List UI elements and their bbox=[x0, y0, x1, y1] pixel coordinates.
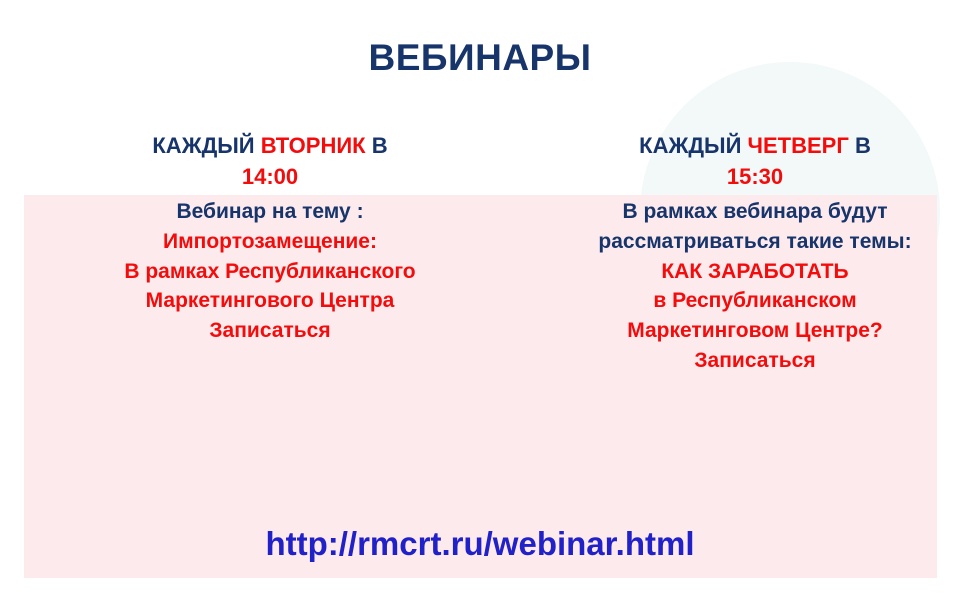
page-title: ВЕБИНАРЫ bbox=[0, 39, 960, 78]
column-thursday-line-3: КАК ЗАРАБОТАТЬ bbox=[555, 257, 955, 287]
column-thursday-line-2: рассматриваться такие темы: bbox=[555, 227, 955, 257]
column-thursday-line-5: Маркетинговом Центре? bbox=[555, 316, 955, 346]
column-tuesday-line-4: Маркетингового Центра bbox=[70, 286, 470, 316]
column-thursday-lines: В рамках вебинара будут рассматриваться … bbox=[555, 197, 955, 375]
column-thursday-heading: КАЖДЫЙ ЧЕТВЕРГ В 15:30 bbox=[555, 130, 955, 192]
column-tuesday-lines: Вебинар на тему : Импортозамещение: В ра… bbox=[70, 197, 470, 345]
column-tuesday-heading: КАЖДЫЙ ВТОРНИК В 14:00 bbox=[70, 130, 470, 192]
heading-prefix: КАЖДЫЙ bbox=[152, 133, 254, 158]
column-tuesday: КАЖДЫЙ ВТОРНИК В 14:00 Вебинар на тему :… bbox=[70, 130, 470, 346]
heading-suffix: В bbox=[372, 133, 388, 158]
column-thursday-signup-link[interactable]: Записаться bbox=[555, 346, 955, 376]
column-thursday-line-4: в Республиканском bbox=[555, 286, 955, 316]
column-thursday: КАЖДЫЙ ЧЕТВЕРГ В 15:30 В рамках вебинара… bbox=[555, 130, 955, 375]
heading-day: ВТОРНИК bbox=[261, 133, 366, 158]
slide-content: ВЕБИНАРЫ КАЖДЫЙ ВТОРНИК В 14:00 Вебинар … bbox=[0, 0, 960, 600]
column-thursday-line-1: В рамках вебинара будут bbox=[555, 197, 955, 227]
heading-suffix: В bbox=[855, 133, 871, 158]
webinar-url-link[interactable]: http://rmcrt.ru/webinar.html bbox=[0, 526, 960, 562]
heading-day: ЧЕТВЕРГ bbox=[748, 133, 849, 158]
column-tuesday-signup-link[interactable]: Записаться bbox=[70, 316, 470, 346]
heading-prefix: КАЖДЫЙ bbox=[639, 133, 741, 158]
column-tuesday-line-1: Вебинар на тему : bbox=[70, 197, 470, 227]
heading-time: 15:30 bbox=[555, 161, 955, 192]
slide-canvas: ВЕБИНАРЫ КАЖДЫЙ ВТОРНИК В 14:00 Вебинар … bbox=[0, 0, 960, 600]
column-tuesday-line-3: В рамках Республиканского bbox=[70, 257, 470, 287]
heading-time: 14:00 bbox=[70, 161, 470, 192]
column-tuesday-line-2: Импортозамещение: bbox=[70, 227, 470, 257]
